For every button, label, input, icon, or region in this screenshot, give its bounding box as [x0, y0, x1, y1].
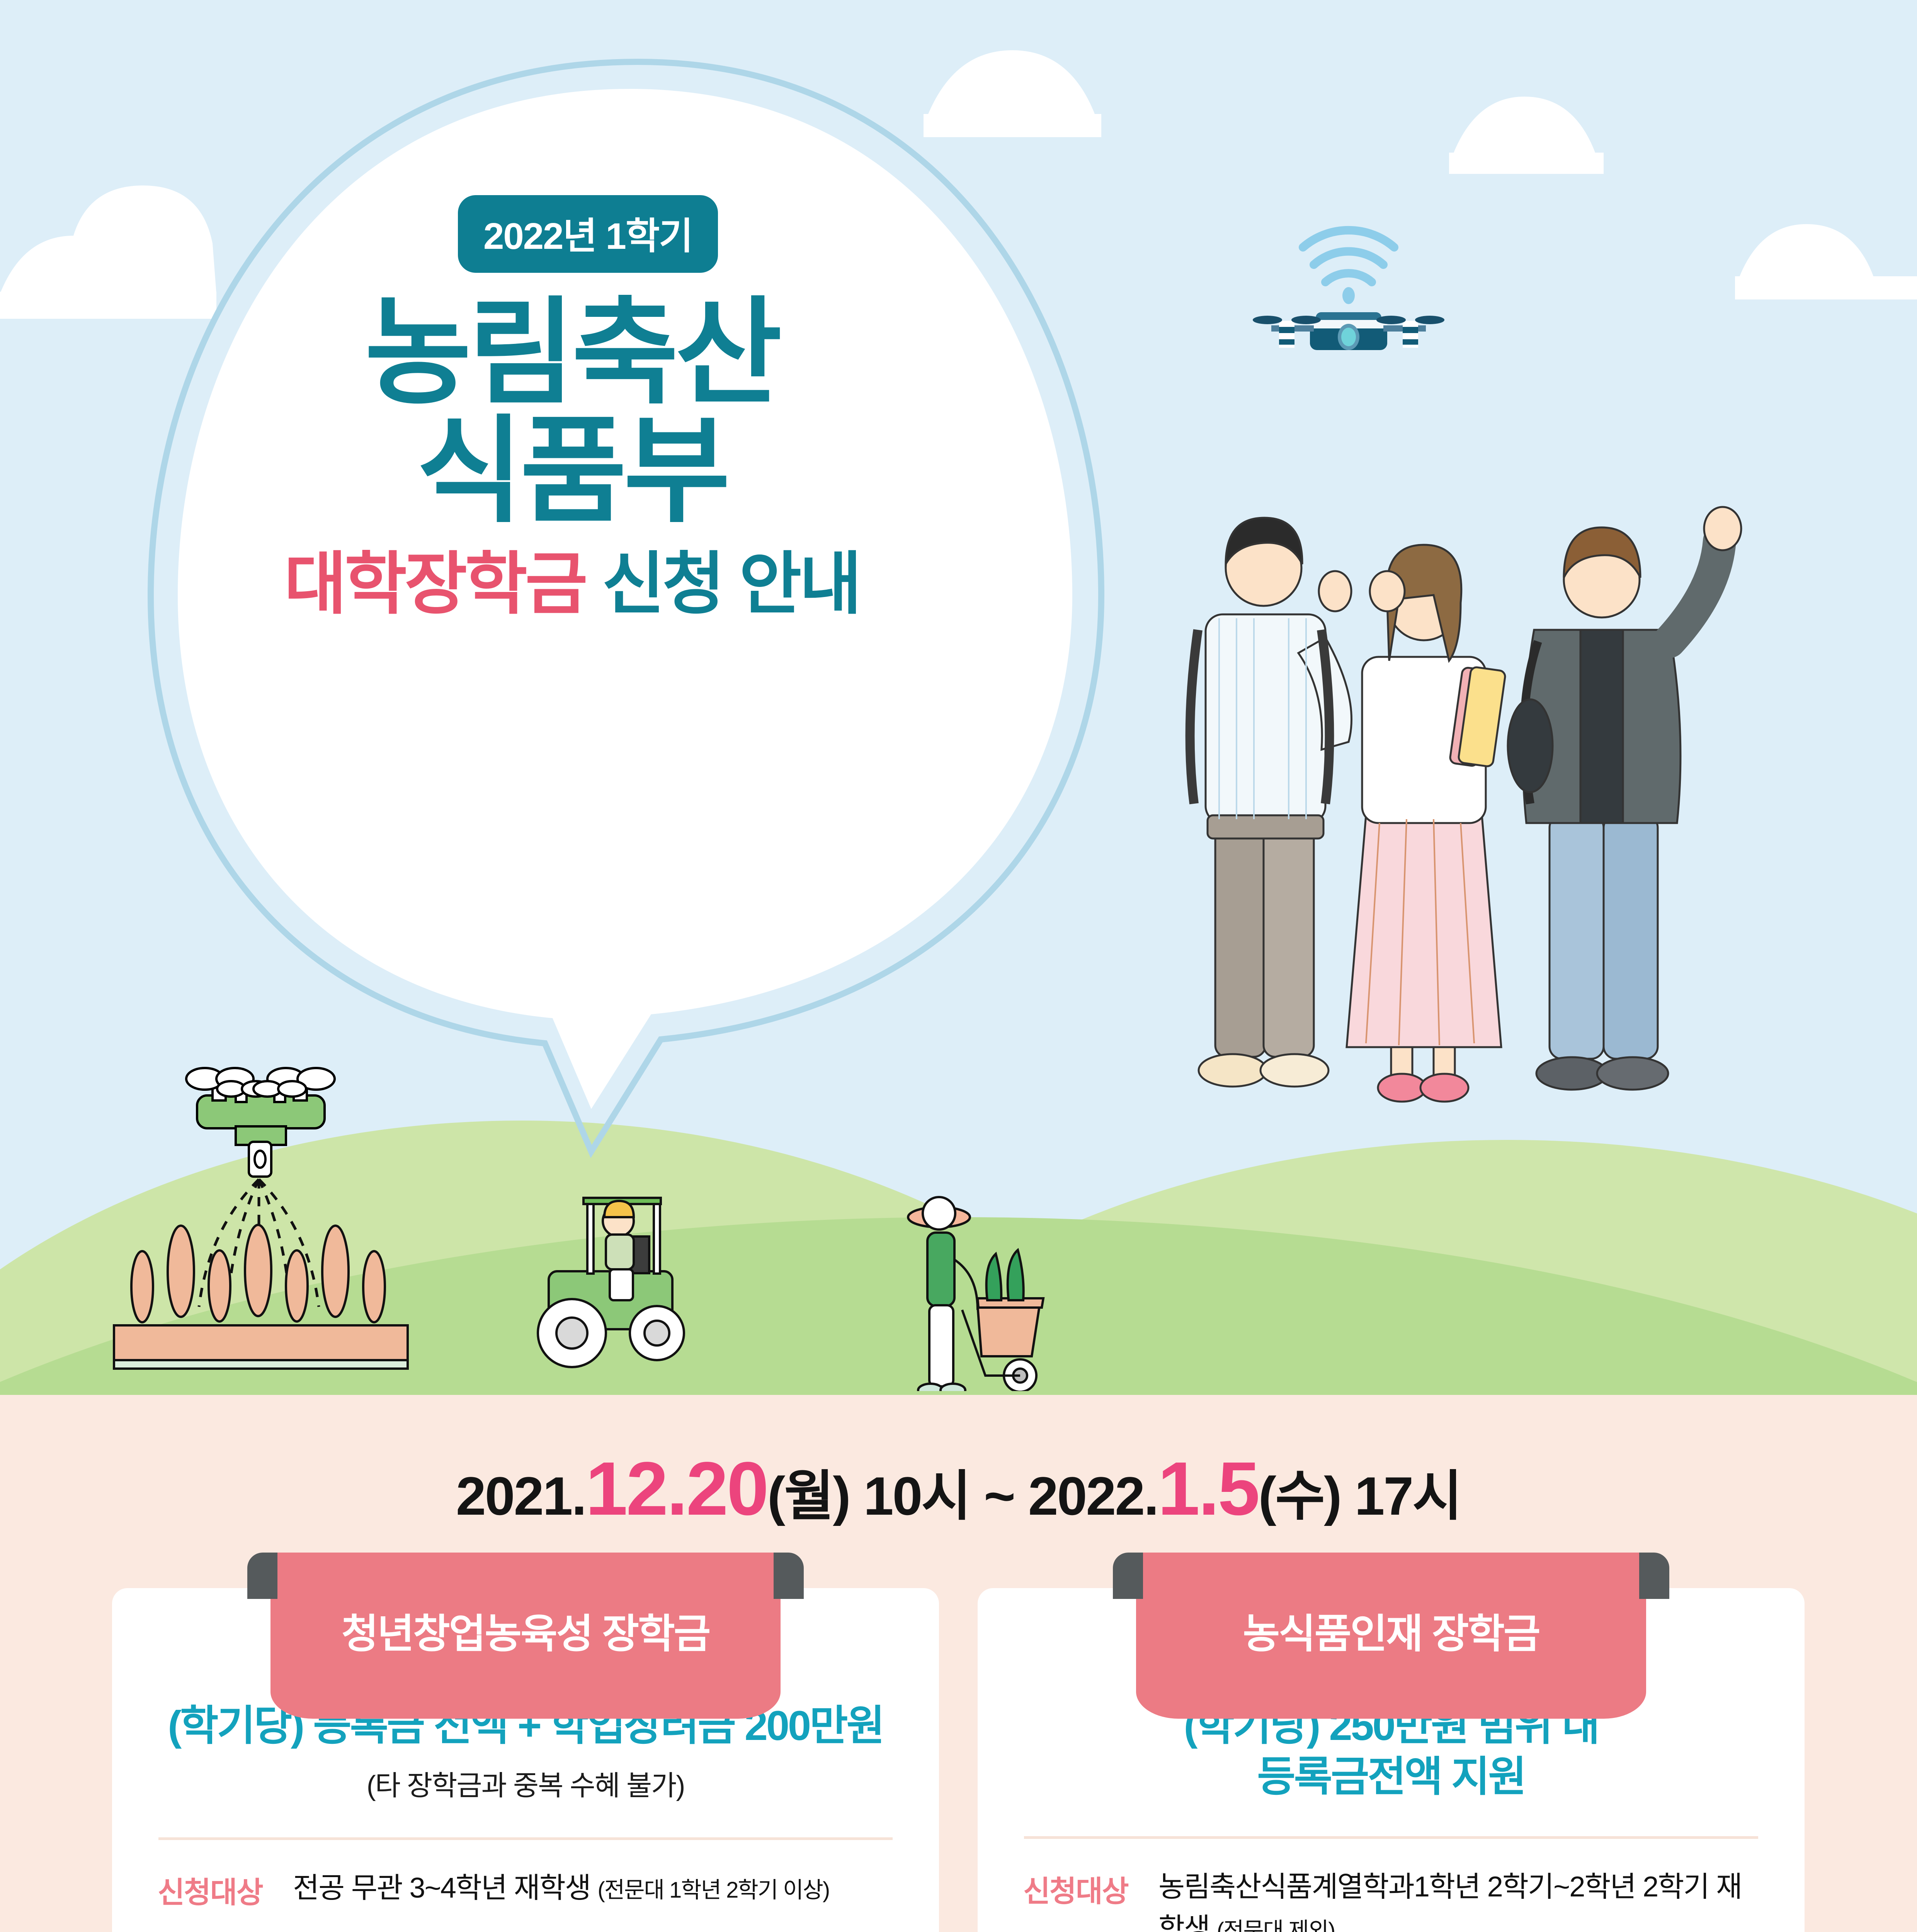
- subtitle-apply: 신청 안내: [602, 546, 860, 622]
- drone-icon: [1217, 216, 1457, 371]
- detail-line: 전공 무관 3~4학년 재학생 (전문대 1학년 2학기 이상): [293, 1872, 829, 1904]
- ribbon-fold-left: [1113, 1553, 1143, 1599]
- card-detail-rows: 신청대상농림축산식품계열학과1학년 2학기~2학년 2학기 재학생 (전문대 제…: [978, 1866, 1805, 1932]
- card-detail-rows: 신청대상전공 무관 3~4학년 재학생 (전문대 1학년 2학기 이상)신청자격…: [112, 1867, 939, 1932]
- card-detail-row: 신청대상전공 무관 3~4학년 재학생 (전문대 1학년 2학기 이상): [158, 1867, 896, 1911]
- subtitle-scholarship: 대학장학금: [284, 546, 585, 622]
- semester-badge: 2022년 1학기: [458, 195, 718, 273]
- period-start-suffix: (월) 10시 ~: [767, 1466, 1028, 1526]
- spray-drone-icon: [186, 1068, 335, 1177]
- period-end-date: 1.5: [1158, 1446, 1258, 1531]
- farm-illustration: [77, 966, 1082, 1391]
- scholarship-cards: 청년창업농육성 장학금(학기당) 등록금 전액 + 학업장려금 200만원(타 …: [112, 1588, 1805, 1932]
- scholarship-card: 청년창업농육성 장학금(학기당) 등록금 전액 + 학업장려금 200만원(타 …: [112, 1588, 939, 1932]
- farmer-wheelbarrow-icon: [908, 1197, 1043, 1391]
- card-detail-row: 신청대상농림축산식품계열학과1학년 2학기~2학년 2학기 재학생 (전문대 제…: [1023, 1866, 1762, 1932]
- period-start-date: 12.20: [585, 1446, 767, 1531]
- ribbon-fold-right: [1639, 1553, 1669, 1599]
- detail-line: 농림축산식품계열학과: [1158, 1871, 1414, 1903]
- card-title: 청년창업농육성 장학금: [342, 1601, 710, 1659]
- title-block: 농림축산 식품부 대학장학금 신청 안내: [0, 294, 1144, 622]
- period-end-suffix: (수) 17시: [1259, 1466, 1461, 1526]
- detail-row-label: 신청대상: [1023, 1866, 1158, 1932]
- card-divider: [158, 1837, 893, 1840]
- scholarship-card: 농식품인재 장학금(학기당) 250만원 범위 내등록금전액 지원신청대상농림축…: [978, 1588, 1805, 1932]
- ribbon-fold-right: [774, 1553, 804, 1599]
- wheat-field-icon: [114, 1225, 408, 1369]
- card-amount-note: (타 장학금과 중복 수혜 불가): [112, 1763, 939, 1803]
- detail-row-body: 농림축산식품계열학과1학년 2학기~2학년 2학기 재학생 (전문대 제외): [1158, 1866, 1762, 1932]
- detail-row-body: 전공 무관 3~4학년 재학생 (전문대 1학년 2학기 이상): [293, 1867, 896, 1911]
- poster-root: 2022년 1학기 농림축산 식품부 대학장학금 신청 안내: [0, 0, 1917, 1932]
- card-ribbon-header: 농식품인재 장학금: [1136, 1553, 1646, 1719]
- tractor-icon: [538, 1198, 684, 1367]
- detail-row-label: 신청대상: [158, 1867, 293, 1911]
- card-ribbon-header: 청년창업농육성 장학금: [270, 1553, 781, 1719]
- page-title-line1: 농림축산: [0, 294, 1144, 412]
- page-title-line2: 식품부: [0, 412, 1144, 530]
- card-title: 농식품인재 장학금: [1243, 1601, 1539, 1659]
- application-period: 2021.12.20(월) 10시 ~ 2022.1.5(수) 17시: [0, 1445, 1917, 1532]
- period-start-year: 2021.: [456, 1466, 585, 1526]
- period-end-year: 2022.: [1028, 1466, 1158, 1526]
- students-illustration: [1140, 475, 1893, 1209]
- page-subtitle: 대학장학금 신청 안내: [0, 547, 1144, 622]
- ribbon-fold-left: [247, 1553, 277, 1599]
- card-divider: [1024, 1836, 1758, 1839]
